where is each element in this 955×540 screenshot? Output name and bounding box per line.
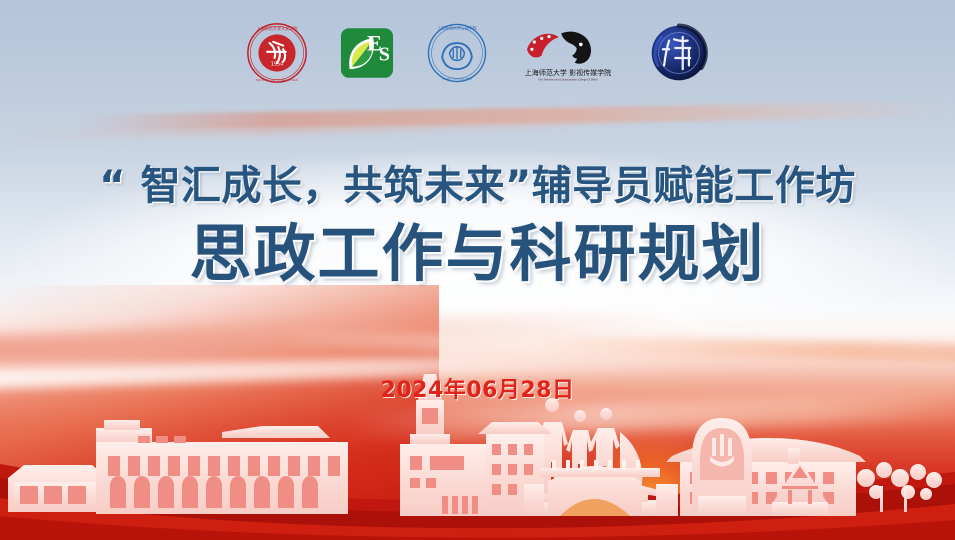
poster-title: 思政工作与科研规划	[0, 218, 955, 289]
svg-text:上海师范大学 影视传媒学院: 上海师范大学 影视传媒学院	[524, 68, 610, 77]
chuan-calligraphy-seal-icon	[648, 22, 710, 84]
poster-canvas: 1954 上海师范大学人文学院 SCHOOL OF HUMANITIES E S…	[0, 0, 955, 540]
svg-text:SCHOOL OF HUMANITIES: SCHOOL OF HUMANITIES	[255, 78, 297, 82]
shanghai-normal-university-humanities-seal-icon: 1954 上海师范大学人文学院 SCHOOL OF HUMANITIES	[246, 22, 308, 84]
event-date: 2024年06月28日	[0, 372, 955, 404]
sky-streak-secondary	[0, 117, 669, 141]
es-leaf-logo-icon: E S	[336, 22, 398, 84]
svg-text:1954: 1954	[270, 61, 283, 67]
svg-text:Film Television and Communicat: Film Television and Communication Colleg…	[538, 79, 598, 82]
title-block: “ 智汇成长，共筑未来”辅导员赋能工作坊 思政工作与科研规划	[0, 162, 955, 289]
svg-text:上海师范大学人文学院: 上海师范大学人文学院	[256, 25, 297, 31]
poster-subtitle: “ 智汇成长，共筑未来”辅导员赋能工作坊	[0, 162, 955, 210]
shanghai-normal-university-psychology-seal-icon: 上海师范大学心理学院 School of Psychology, SHNU	[426, 22, 488, 84]
sky-streak-primary	[76, 101, 955, 131]
logo-row: 1954 上海师范大学人文学院 SCHOOL OF HUMANITIES E S…	[0, 20, 955, 86]
svg-text:上海师范大学心理学院: 上海师范大学心理学院	[437, 25, 477, 30]
svg-text:School of Psychology, SHNU: School of Psychology, SHNU	[441, 79, 471, 81]
film-television-media-college-logo-icon: 上海师范大学 影视传媒学院 Film Television and Commun…	[516, 22, 620, 84]
svg-text:S: S	[378, 43, 389, 65]
